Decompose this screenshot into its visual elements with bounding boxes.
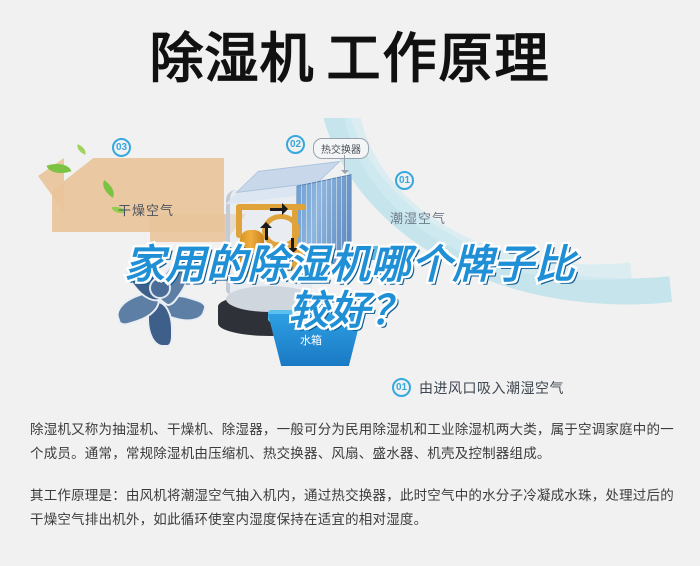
diagram-badge-01: 01 (395, 171, 414, 190)
humid-air-label: 潮湿空气 (390, 208, 446, 227)
legend-label: 由进风口吸入潮湿空气 (419, 378, 564, 398)
diagram-badge-03: 03 (112, 138, 131, 157)
air-intake-arrow-icon (352, 246, 398, 260)
body-paragraph-1: 除湿机又称为抽湿机、干燥机、除湿器，一般可分为民用除湿机和工业除湿机两大类，属于… (30, 418, 678, 466)
machine-base-top (226, 286, 314, 312)
flow-arrow-stem (270, 208, 282, 211)
flow-arrow-stem (265, 228, 268, 240)
flow-arrow-down-icon (286, 248, 298, 260)
heat-exchanger-callout: 热交换器 (313, 138, 369, 159)
body-paragraph-2: 其工作原理是：由风机将潮湿空气抽入机内，通过热交换器，此时空气中的水分子冷凝成水… (30, 484, 678, 532)
fan-icon (160, 288, 161, 289)
dry-air-label: 干燥空气 (118, 200, 174, 219)
article-image: 除湿机工作原理 (0, 0, 700, 566)
title-part-principle: 工作原理 (327, 28, 551, 90)
legend-item: 01 由进风口吸入潮湿空气 (392, 370, 692, 400)
flow-arrow-right-icon (282, 203, 294, 215)
title-part-product: 除湿机 (150, 28, 315, 90)
legend-number: 01 (392, 378, 411, 397)
diagram-badge-02: 02 (286, 135, 305, 154)
leaf-icon (75, 144, 88, 155)
condenser-fins (296, 174, 352, 272)
dehumidifier-diagram: 水箱 热交换器 03 02 01 干燥空气 潮湿空气 压缩机 01 由进风口吸入… (0, 118, 700, 400)
flow-arrow-up-icon (260, 216, 272, 228)
diagram-legend: 01 由进风口吸入潮湿空气 02 潮湿空气经过蒸发器冷凝成水珠 03 从上部出风… (392, 370, 692, 400)
page-title: 除湿机工作原理 (0, 28, 700, 90)
callout-pointer-icon (344, 155, 345, 171)
water-tank-label: 水箱 (300, 332, 322, 348)
compressor-label: 压缩机 (250, 266, 283, 281)
article-body: 除湿机又称为抽湿机、干燥机、除湿器，一般可分为民用除湿机和工业除湿机两大类，属于… (30, 418, 678, 532)
